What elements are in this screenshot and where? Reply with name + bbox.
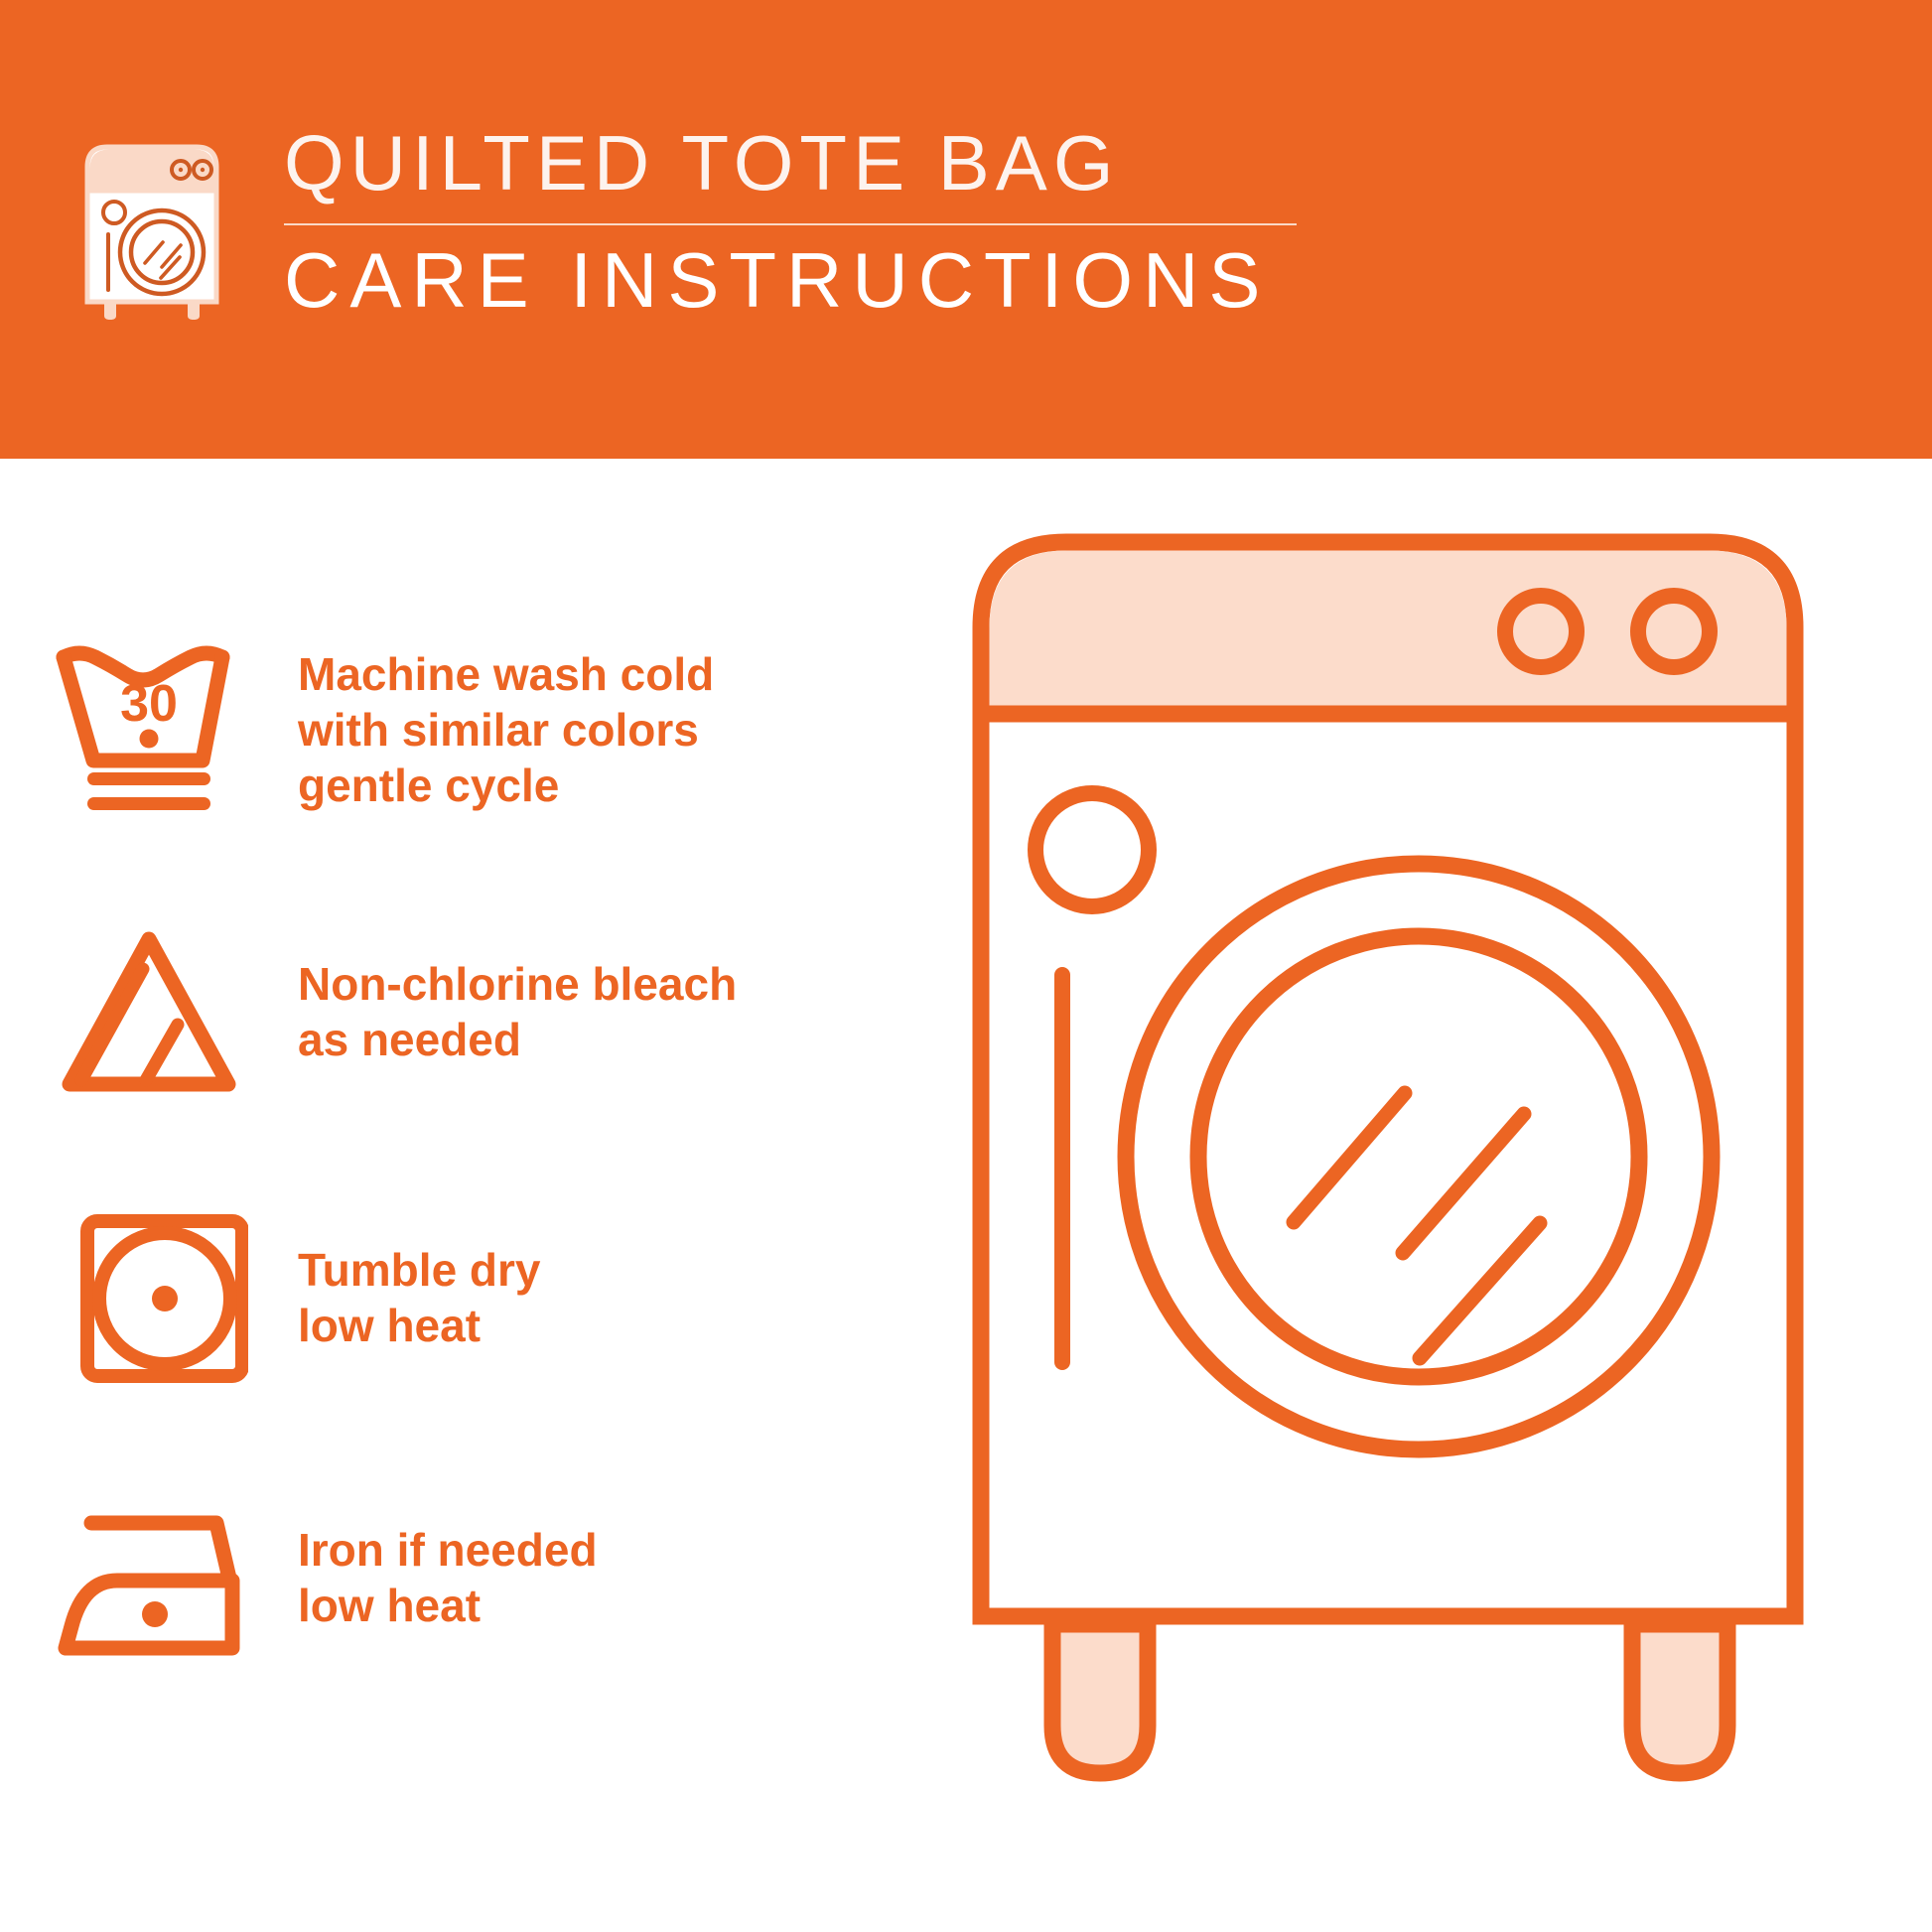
care-row-iron: Iron if needed low heat [0,1463,953,1692]
care-instruction-list: 30 Machine wash cold with similar colors… [0,459,953,1932]
page-title-subject: CARE INSTRUCTIONS [284,241,1316,319]
care-row-machine-wash: 30 Machine wash cold with similar colors… [0,616,953,844]
care-text-iron: Iron if needed low heat [298,1522,598,1633]
header-banner: QUILTED TOTE BAG CARE INSTRUCTIONS [0,0,1932,459]
tumble-dry-low-heat-icon [0,1211,298,1385]
wash-temperature-value: 30 [120,675,178,733]
care-text-machine-wash: Machine wash cold with similar colors ge… [298,646,714,813]
title-divider [284,223,1297,225]
iron-low-heat-icon [0,1491,298,1665]
washing-machine-icon [77,131,226,320]
wash-basin-30-gentle-icon: 30 [0,643,298,817]
care-instructions-page: QUILTED TOTE BAG CARE INSTRUCTIONS 30 Ma… [0,0,1932,1932]
page-title-product: QUILTED TOTE BAG [284,124,1316,202]
care-text-bleach: Non-chlorine bleach as needed [298,956,737,1067]
care-text-tumble-dry: Tumble dry low heat [298,1242,541,1353]
care-row-tumble-dry: Tumble dry low heat [0,1183,953,1412]
non-chlorine-bleach-triangle-icon [0,925,298,1099]
header-title-block: QUILTED TOTE BAG CARE INSTRUCTIONS [284,124,1316,319]
care-row-bleach: Non-chlorine bleach as needed [0,897,953,1126]
washing-machine-illustration [953,496,1932,1886]
